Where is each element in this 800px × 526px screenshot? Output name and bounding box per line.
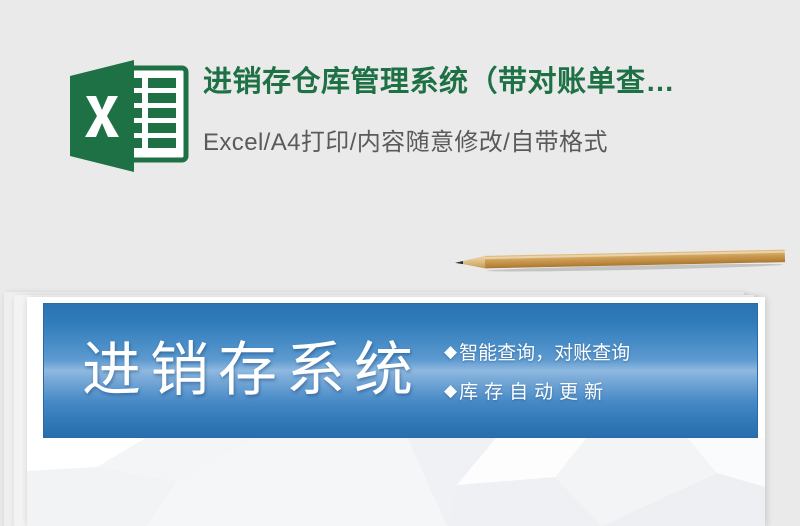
- diamond-bullet-icon: ◆: [444, 382, 457, 399]
- system-banner: 进销存系统 ◆ 智能查询，对账查询 ◆ 库存自动更新: [43, 303, 758, 438]
- title-block: 进销存仓库管理系统（带对账单查… Excel/A4打印/内容随意修改/自带格式: [203, 62, 800, 162]
- pencil-icon: [455, 245, 785, 274]
- header-area: 进销存仓库管理系统（带对账单查… Excel/A4打印/内容随意修改/自带格式: [0, 0, 800, 225]
- banner-feature-label: 库存自动更新: [459, 377, 609, 404]
- excel-file-icon: [62, 58, 190, 174]
- diamond-bullet-icon: ◆: [444, 343, 457, 360]
- page-title: 进销存仓库管理系统（带对账单查…: [203, 62, 800, 102]
- low-poly-background: [27, 437, 765, 526]
- page-subtitle: Excel/A4打印/内容随意修改/自带格式: [203, 124, 800, 162]
- banner-feature-item: ◆ 智能查询，对账查询: [444, 338, 630, 365]
- banner-feature-label: 智能查询，对账查询: [459, 338, 630, 365]
- banner-feature-list: ◆ 智能查询，对账查询 ◆ 库存自动更新: [444, 338, 630, 404]
- banner-feature-item: ◆ 库存自动更新: [444, 377, 630, 404]
- banner-title: 进销存系统: [82, 341, 422, 400]
- document-preview-card: 进销存系统 ◆ 智能查询，对账查询 ◆ 库存自动更新: [27, 297, 765, 526]
